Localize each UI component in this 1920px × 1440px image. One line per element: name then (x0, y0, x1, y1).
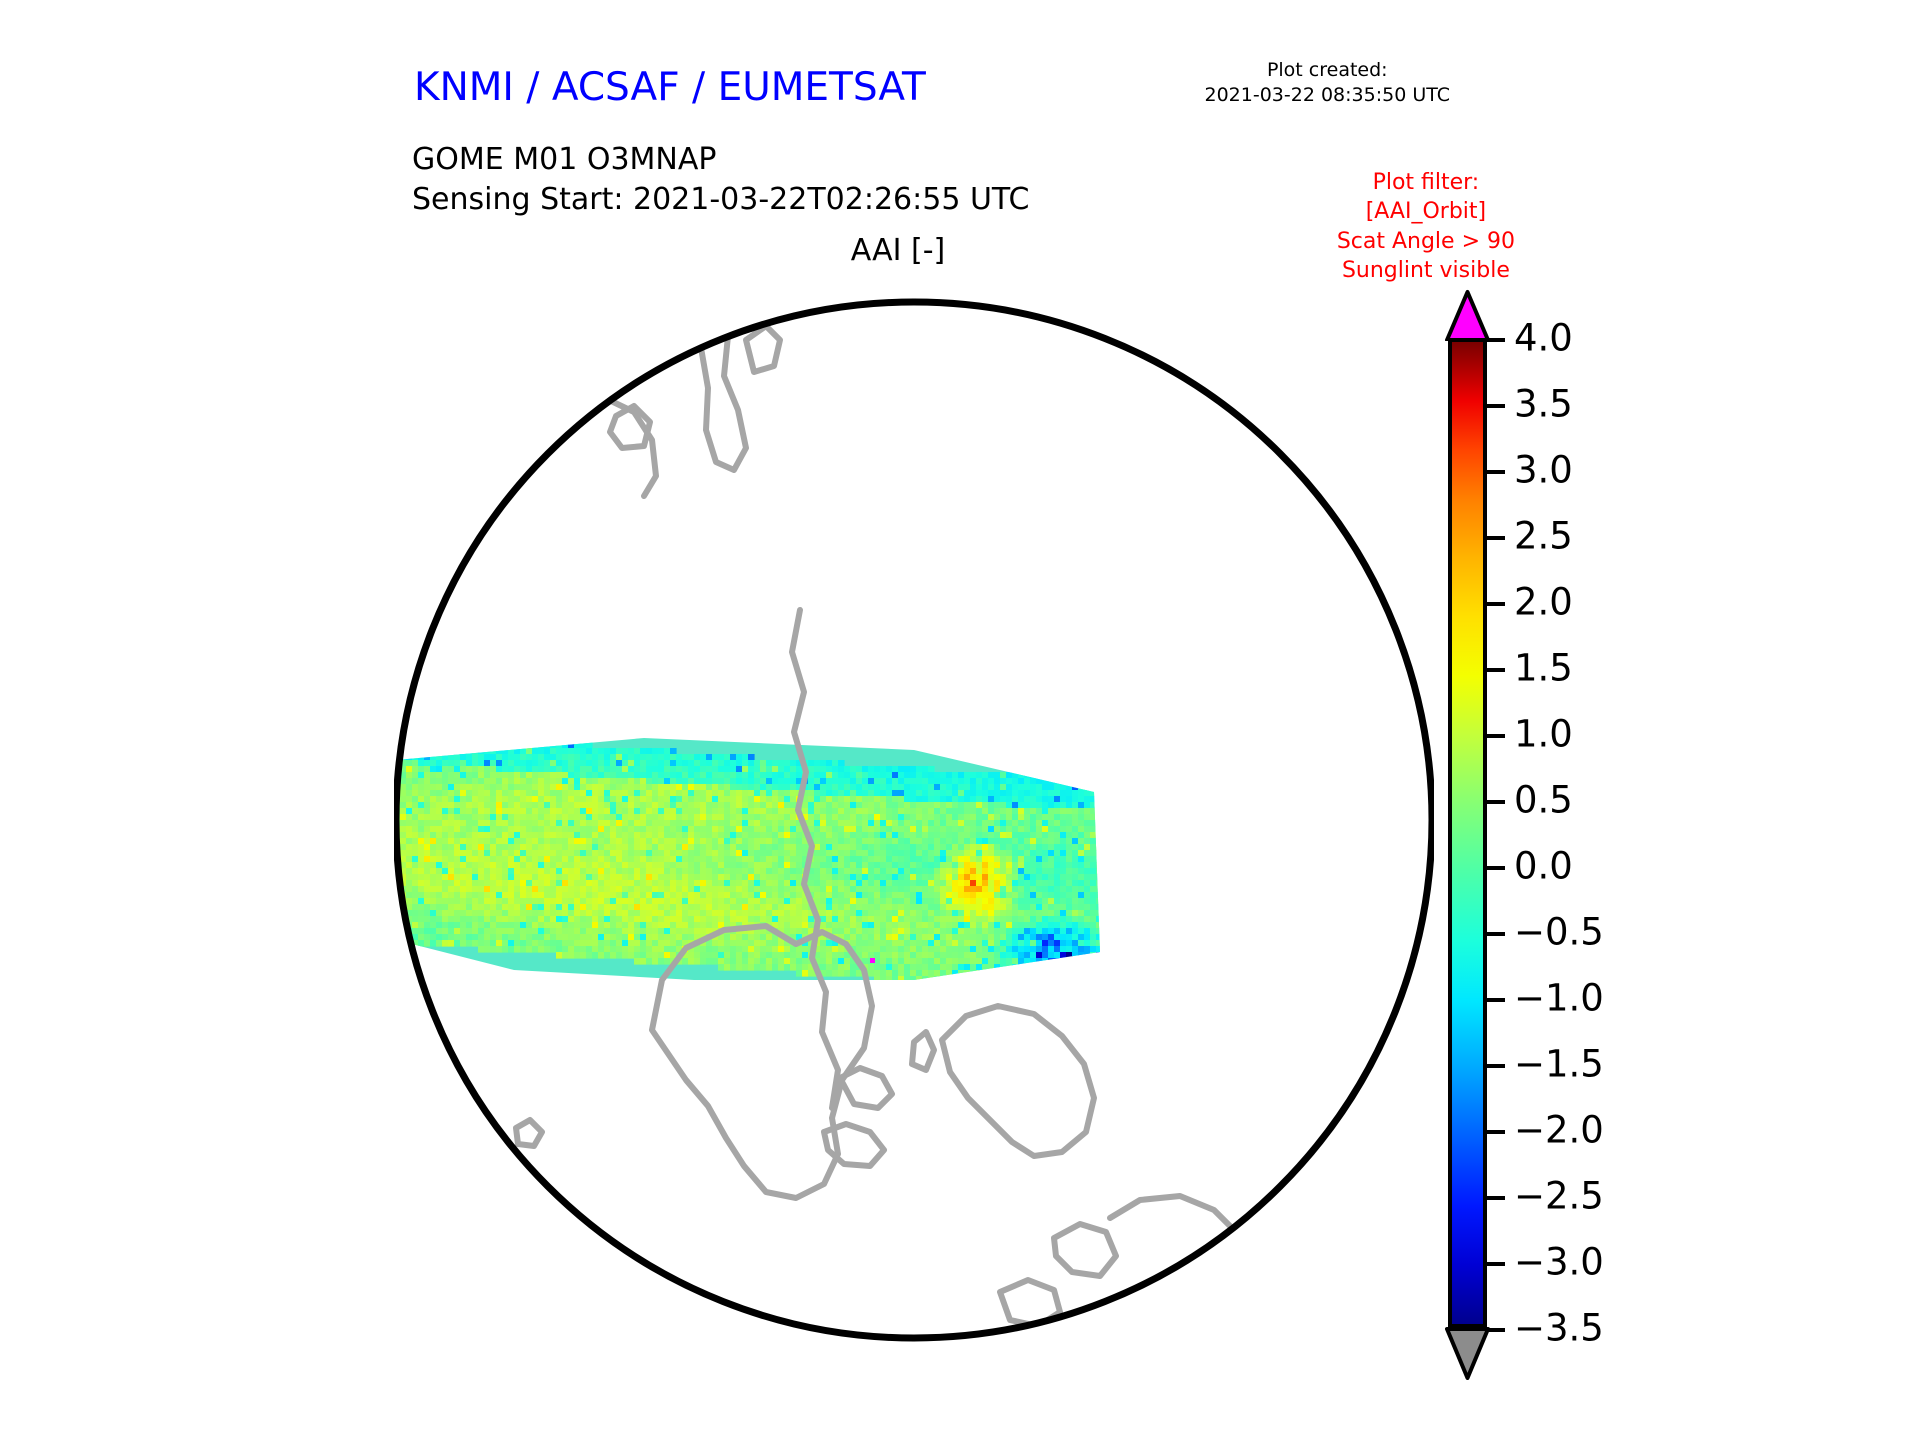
colorbar-tick-label: 3.0 (1514, 449, 1573, 492)
colorbar-tick-label: 2.5 (1514, 515, 1573, 558)
colorbar-tick (1487, 734, 1505, 738)
plot-canvas: KNMI / ACSAF / EUMETSAT Plot created: 20… (0, 0, 1920, 1440)
colorbar-tick-label: 4.0 (1514, 317, 1573, 360)
colorbar-tick-label: 2.0 (1514, 581, 1573, 624)
plot-filter-dataset: [AAI_Orbit] (1337, 197, 1515, 226)
colorbar-tick-label: −0.5 (1514, 911, 1604, 954)
colorbar-tick (1487, 800, 1505, 804)
colorbar-tick (1487, 1196, 1505, 1200)
colorbar-tick (1487, 470, 1505, 474)
colorbar-tick (1487, 536, 1505, 540)
colorbar-tick (1487, 1328, 1505, 1332)
colorbar-tick-label: 0.5 (1514, 779, 1573, 822)
colorbar-tick-label: 0.0 (1514, 845, 1573, 888)
plot-filter-label: Plot filter: (1337, 168, 1515, 197)
colorbar-tick (1487, 932, 1505, 936)
map-area[interactable] (394, 280, 1434, 1360)
colorbar-over-range-triangle (1445, 289, 1490, 341)
colorbar-tick-label: −1.5 (1514, 1043, 1604, 1086)
colorbar-tick-label: 1.5 (1514, 647, 1573, 690)
colorbar[interactable]: 4.03.53.02.52.01.51.00.50.0−0.5−1.0−1.5−… (1448, 285, 1868, 1295)
colorbar-tick-label: 1.0 (1514, 713, 1573, 756)
colorbar-tick (1487, 1130, 1505, 1134)
colorbar-tick-label: −3.0 (1514, 1241, 1604, 1284)
colorbar-under-range-triangle (1445, 1326, 1490, 1380)
colorbar-tick (1487, 338, 1505, 342)
plot-created-timestamp: 2021-03-22 08:35:50 UTC (1205, 83, 1451, 108)
product-name: GOME M01 O3MNAP (412, 140, 1029, 180)
colorbar-tick (1487, 602, 1505, 606)
plot-created-label: Plot created: (1205, 58, 1451, 83)
colorbar-tick (1487, 866, 1505, 870)
colorbar-gradient (1448, 338, 1487, 1328)
colorbar-tick (1487, 668, 1505, 672)
plot-filter-scat-angle: Scat Angle > 90 (1337, 227, 1515, 256)
colorbar-tick (1487, 404, 1505, 408)
sensing-start: Sensing Start: 2021-03-22T02:26:55 UTC (412, 180, 1029, 220)
globe-svg (394, 280, 1434, 1360)
product-info-block: GOME M01 O3MNAP Sensing Start: 2021-03-2… (412, 140, 1029, 219)
colorbar-tick-label: 3.5 (1514, 383, 1573, 426)
colorbar-tick-label: −2.5 (1514, 1175, 1604, 1218)
over-range-pixel (870, 958, 875, 963)
map-title-text: AAI [-] (851, 233, 946, 268)
colorbar-tick (1487, 1064, 1505, 1068)
map-title: AAI [-] (0, 233, 1920, 268)
organisation-title: KNMI / ACSAF / EUMETSAT (414, 65, 926, 110)
colorbar-tick-label: −3.5 (1514, 1307, 1604, 1350)
plot-created-block: Plot created: 2021-03-22 08:35:50 UTC (1205, 58, 1451, 107)
colorbar-tick-label: −2.0 (1514, 1109, 1604, 1152)
colorbar-tick-label: −1.0 (1514, 977, 1604, 1020)
colorbar-tick (1487, 1262, 1505, 1266)
colorbar-tick (1487, 998, 1505, 1002)
plot-filter-block: Plot filter: [AAI_Orbit] Scat Angle > 90… (1337, 168, 1515, 285)
